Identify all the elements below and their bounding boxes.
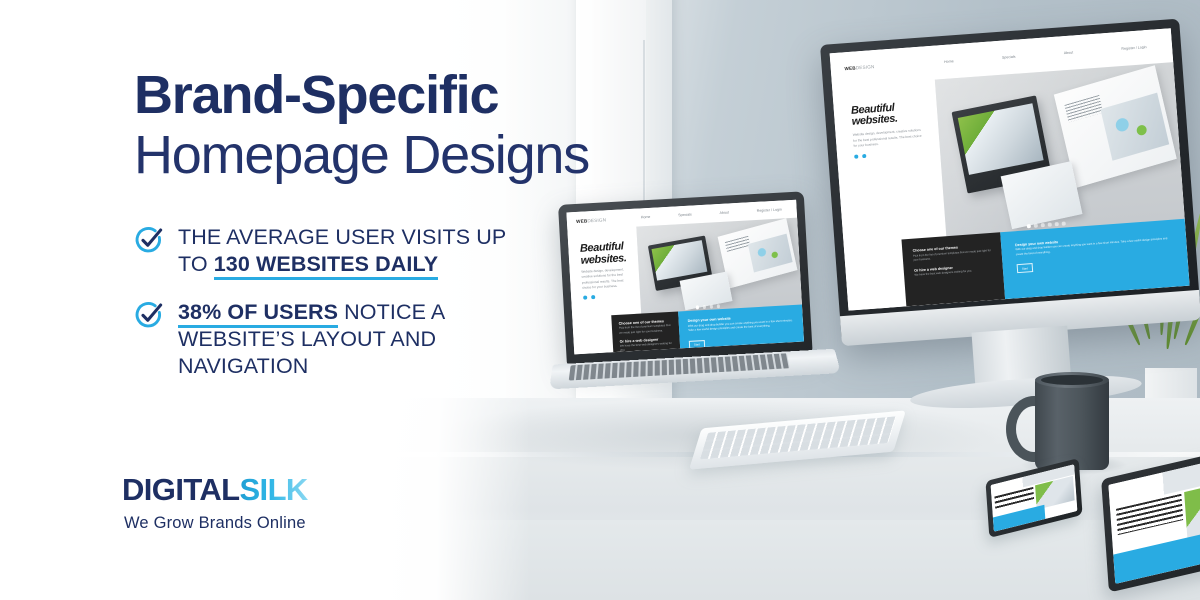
mockup-logo: WEBDESIGN (844, 64, 874, 71)
mockup-dark-sub-1: Pick from the list of premium templates … (619, 324, 672, 335)
list-item-text: THE AVERAGE USER VISITS UP TO 130 WEBSIT… (178, 224, 534, 277)
carousel-dot[interactable] (703, 305, 707, 309)
promo-banner: WEBDESIGN Home Specials About Register /… (0, 0, 1200, 600)
mockup-hero-line2: websites. (580, 252, 627, 267)
monitor-bezel: WEBDESIGN Home Specials About Register /… (820, 19, 1200, 345)
stat-1-highlight: 130 WEBSITES DAILY (214, 252, 438, 280)
mockup-inner-card (717, 219, 797, 289)
headline-line-1: Brand-Specific (134, 68, 694, 122)
mockup-nav-register: Register / Login (757, 208, 782, 213)
headline-line-2: Homepage Designs (134, 128, 694, 182)
mockup-nav-register: Register / Login (1121, 45, 1146, 51)
desktop-monitor: WEBDESIGN Home Specials About Register /… (820, 16, 1200, 354)
carousel-dot[interactable] (696, 306, 700, 310)
list-item-text: 38% OF USERS NOTICE A WEBSITE’S LAYOUT A… (178, 299, 534, 379)
mockup-hero-image-laptop (636, 218, 802, 315)
coffee-mug (1035, 378, 1109, 470)
list-item: THE AVERAGE USER VISITS UP TO 130 WEBSIT… (134, 224, 534, 277)
website-mockup-laptop: WEBDESIGN Home Specials About Register /… (566, 200, 804, 355)
mockup-social-icons (583, 293, 631, 300)
mockup-nav-items: Home Specials About Register / Login (932, 44, 1158, 65)
carousel-dot[interactable] (1055, 222, 1059, 226)
mockup-start-button[interactable]: Start (1017, 263, 1034, 273)
mockup-dark-sub-2: We have the best web designers waiting f… (620, 342, 673, 353)
mockup-nav-about: About (719, 211, 729, 216)
social-icon (583, 295, 587, 299)
social-icon (862, 154, 866, 158)
mockup-dark-panel-laptop: Choose one of our themes Pick from the l… (611, 312, 680, 353)
laptop: WEBDESIGN Home Specials About Register /… (558, 190, 829, 404)
carousel-dot[interactable] (1048, 223, 1052, 227)
list-item: 38% OF USERS NOTICE A WEBSITE’S LAYOUT A… (134, 299, 534, 379)
content-panel: Brand-Specific Homepage Designs THE AVER… (0, 0, 560, 600)
mockup-hero-paragraph: Website design, development, creative so… (853, 128, 926, 150)
mockup-hero-image (934, 62, 1184, 239)
logo-tagline: We Grow Brands Online (122, 514, 308, 533)
website-mockup-desktop: WEBDESIGN Home Specials About Register /… (830, 28, 1190, 310)
logo-silk: SILK (239, 472, 307, 507)
page-title: Brand-Specific Homepage Designs (134, 68, 694, 182)
mockup-nav-specials: Specials (678, 213, 692, 218)
mockup-nav-specials: Specials (1002, 54, 1016, 59)
logo-wordmark: DIGITALSILK (122, 474, 308, 505)
mockup-blue-panel: Design your own website With our drag an… (1001, 219, 1190, 299)
stat-2-highlight: 38% OF USERS (178, 300, 338, 328)
mug-interior (1041, 375, 1103, 385)
mockup-start-button[interactable]: Start (689, 340, 705, 350)
mockup-nav-items-laptop: Home Specials About Register / Login (635, 207, 787, 219)
mockup-logo-laptop: WEBDESIGN (576, 217, 606, 224)
monitor-screen: WEBDESIGN Home Specials About Register /… (830, 28, 1190, 310)
laptop-lid: WEBDESIGN Home Specials About Register /… (558, 191, 813, 364)
logo-digital: DIGITAL (122, 472, 239, 507)
social-icon (854, 155, 858, 159)
stats-list: THE AVERAGE USER VISITS UP TO 130 WEBSIT… (134, 224, 534, 401)
check-circle-icon (134, 225, 164, 255)
mockup-nav-home: Home (641, 215, 651, 220)
mockup-nav-home: Home (944, 59, 954, 64)
carousel-dot[interactable] (1027, 224, 1031, 228)
mockup-dark-panel: Choose one of our themes Pick from the l… (902, 232, 1006, 306)
mockup-hero-paragraph: Website design, development, creative so… (581, 267, 630, 291)
mockup-nav-about: About (1064, 50, 1074, 55)
carousel-dot[interactable] (716, 304, 720, 308)
carousel-dot[interactable] (1034, 224, 1038, 228)
carousel-dot[interactable] (1062, 222, 1066, 226)
mockup-social-icons (854, 150, 926, 159)
brand-logo[interactable]: DIGITALSILK We Grow Brands Online (122, 474, 308, 533)
mockup-hero-line2: websites. (851, 113, 898, 128)
check-circle-icon (134, 300, 164, 330)
carousel-dot[interactable] (1041, 223, 1045, 227)
carousel-dot[interactable] (710, 305, 714, 309)
laptop-screen: WEBDESIGN Home Specials About Register /… (566, 200, 804, 355)
social-icon (591, 295, 595, 299)
mockup-blue-panel-laptop: Design your own website With our drag an… (678, 305, 804, 349)
